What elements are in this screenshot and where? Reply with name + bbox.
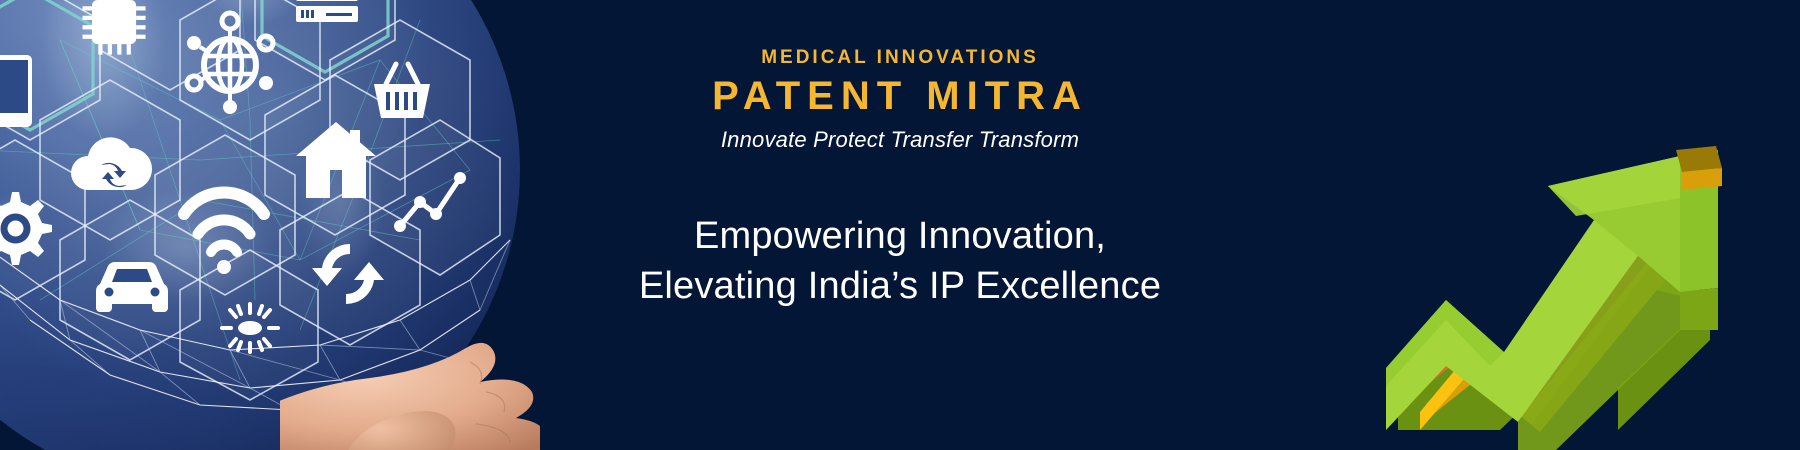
- growth-arrow-3d: [1386, 146, 1722, 450]
- technology-globe-graphic: [0, 0, 540, 450]
- headline-line-2: Elevating India’s IP Excellence: [560, 261, 1240, 311]
- growth-arrow-graphic: [1380, 0, 1800, 450]
- logo-kicker: MEDICAL INNOVATIONS: [560, 48, 1240, 69]
- sun-radial-icon: [222, 304, 278, 352]
- logo-lockup: MEDICAL INNOVATIONS PATENT MITRA Innovat…: [560, 0, 1240, 153]
- hand-graphic: [280, 300, 540, 450]
- center-text-block: MEDICAL INNOVATIONS PATENT MITRA Innovat…: [560, 0, 1240, 450]
- tablet-icon: [0, 55, 32, 127]
- headline: Empowering Innovation, Elevating India’s…: [560, 211, 1240, 311]
- logo-tagline: Innovate Protect Transfer Transform: [560, 127, 1240, 153]
- banner-root: MEDICAL INNOVATIONS PATENT MITRA Innovat…: [0, 0, 1800, 450]
- logo-name: PATENT MITRA: [560, 73, 1240, 119]
- headline-line-1: Empowering Innovation,: [560, 211, 1240, 261]
